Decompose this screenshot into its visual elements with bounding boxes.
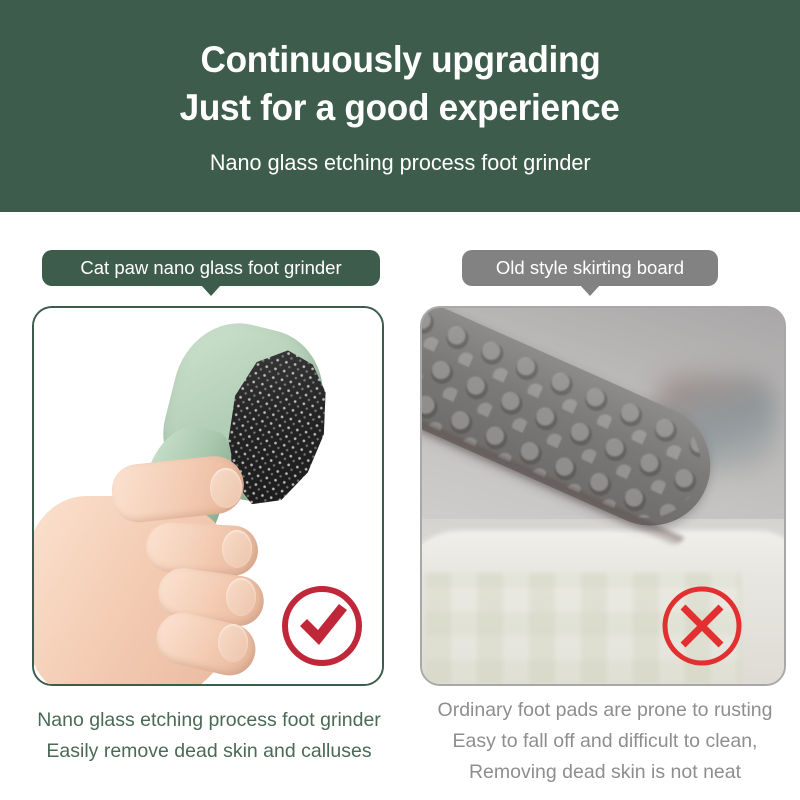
header-banner: Continuously upgrading Just for a good e… [0,0,800,212]
caption-bad-line-1: Ordinary foot pads are prone to rusting [410,695,800,726]
caption-bad-line-3: Removing dead skin is not neat [410,757,800,788]
caption-bad-product: Ordinary foot pads are prone to rusting … [410,695,800,788]
caption-good-line-1: Nano glass etching process foot grinder [14,705,404,736]
tab-good-product-label: Cat paw nano glass foot grinder [80,257,341,279]
fingernail-index [210,468,242,508]
check-circle-icon [279,583,365,669]
tab-good-product: Cat paw nano glass foot grinder [42,250,380,286]
header-title-line-1: Continuously upgrading [200,36,600,83]
tab-bad-product: Old style skirting board [462,250,718,286]
product-comparison-infographic: Continuously upgrading Just for a good e… [0,0,800,800]
header-title-line-2: Just for a good experience [180,84,620,131]
tab-bad-product-label: Old style skirting board [496,257,684,279]
fingernail-little [218,624,248,662]
header-subtitle: Nano glass etching process foot grinder [210,150,591,176]
caption-good-product: Nano glass etching process foot grinder … [14,705,404,767]
cross-circle-icon [659,583,745,669]
fingernail-ring [226,578,256,616]
caption-bad-line-2: Easy to fall off and difficult to clean, [410,726,800,757]
fingernail-middle [222,530,252,568]
caption-good-line-2: Easily remove dead skin and calluses [14,736,404,767]
